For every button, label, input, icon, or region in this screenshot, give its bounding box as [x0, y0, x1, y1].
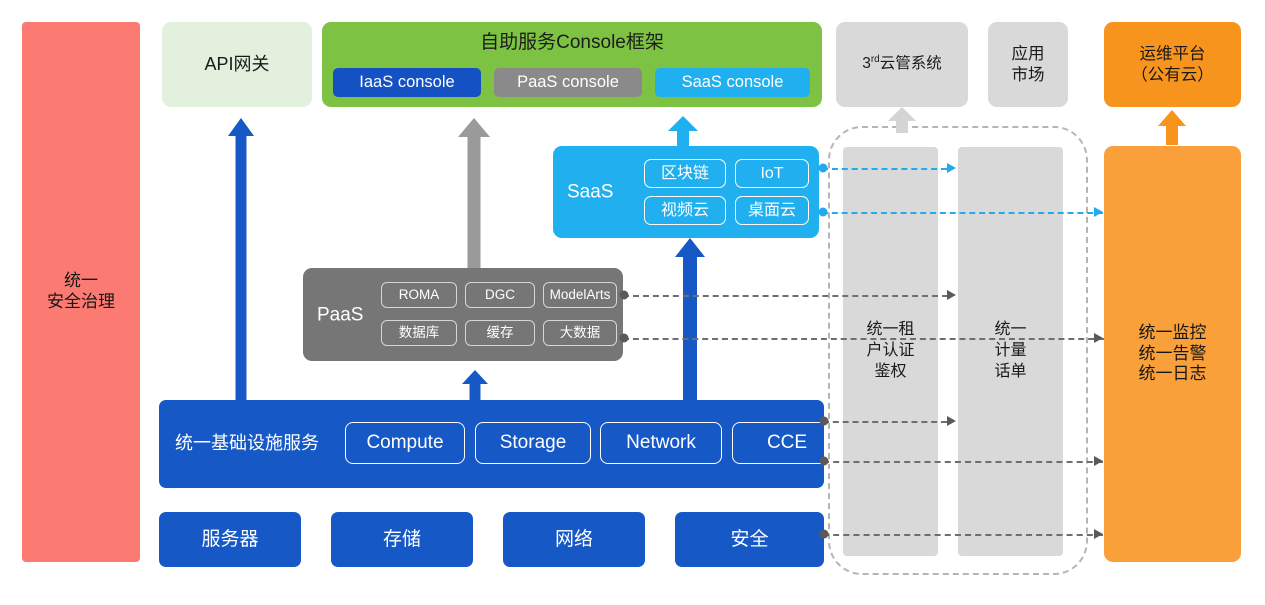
hardware-storage-label: 存储: [383, 528, 421, 551]
infra-chip-storage[interactable]: Storage: [475, 422, 591, 464]
architecture-diagram: 统一安全治理 API网关 自助服务Console框架 IaaS console …: [0, 0, 1265, 605]
dot-hardware-ops: [820, 530, 829, 539]
arrowtip-paas-ops: [1094, 333, 1103, 343]
governance-label: 统一安全治理: [47, 271, 115, 312]
arrow-infra-to-api-gateway: [228, 118, 254, 400]
arrow-ops-column-to-ops-platform: [1158, 110, 1186, 144]
hardware-network-box[interactable]: 网络: [503, 512, 645, 567]
saas-chip-iot[interactable]: IoT: [735, 159, 809, 188]
dashed-line-infra-to-auth: [823, 421, 947, 423]
saas-label: SaaS: [567, 180, 613, 203]
hardware-network-label: 网络: [555, 528, 593, 551]
dot-infra-auth: [820, 417, 829, 426]
paas-chip-cache[interactable]: 缓存: [465, 320, 535, 346]
ops-column-box: 统一监控统一告警统一日志: [1104, 146, 1241, 562]
hardware-security-box[interactable]: 安全: [675, 512, 824, 567]
third-party-label: 3rd云管系统: [862, 54, 942, 74]
dashed-line-saas-to-auth: [822, 168, 947, 170]
api-gateway-box: API网关: [162, 22, 312, 107]
app-market-label: 应用市场: [1012, 44, 1045, 84]
dot-paas-auth: [620, 291, 629, 300]
iaas-console-chip[interactable]: IaaS console: [333, 68, 481, 97]
hardware-storage-box[interactable]: 存储: [331, 512, 473, 567]
infra-chip-compute[interactable]: Compute: [345, 422, 465, 464]
ops-platform-label: 运维平台（公有云）: [1131, 44, 1214, 84]
arrow-paas-to-console: [458, 118, 490, 268]
hardware-server-box[interactable]: 服务器: [159, 512, 301, 567]
saas-chip-desktop-cloud[interactable]: 桌面云: [735, 196, 809, 225]
arrowtip-infra-auth: [947, 416, 956, 426]
unified-metering-label: 统一计量话单: [994, 320, 1026, 382]
dashed-line-hardware-to-ops: [823, 534, 1103, 536]
api-gateway-label: API网关: [204, 54, 269, 76]
dot-saas-ops: [819, 208, 828, 217]
dot-infra-ops: [820, 457, 829, 466]
paas-label: PaaS: [317, 303, 363, 326]
saas-chip-video-cloud[interactable]: 视频云: [644, 196, 726, 225]
paas-chip-roma[interactable]: ROMA: [381, 282, 457, 308]
dashed-line-saas-to-ops: [822, 212, 1103, 214]
arrowtip-saas-ops: [1094, 207, 1103, 217]
third-party-cloud-mgmt-box: 3rd云管系统: [836, 22, 968, 107]
arrow-infra-to-saas: [675, 238, 705, 401]
paas-chip-database[interactable]: 数据库: [381, 320, 457, 346]
dot-paas-ops: [620, 334, 629, 343]
console-framework-title: 自助服务Console框架: [322, 31, 822, 54]
arrow-infra-to-paas: [462, 370, 488, 401]
paas-box: PaaS ROMA DGC ModelArts 数据库 缓存 大数据: [303, 268, 623, 361]
dot-saas-auth: [819, 164, 828, 173]
governance-column: 统一安全治理: [22, 22, 140, 562]
arrow-saas-to-console: [668, 116, 698, 148]
dashed-line-infra-to-ops: [823, 461, 1103, 463]
unified-tenant-auth-column: 统一租户认证鉴权: [843, 147, 938, 556]
saas-console-chip[interactable]: SaaS console: [655, 68, 810, 97]
app-market-box: 应用市场: [988, 22, 1068, 107]
infrastructure-label: 统一基础设施服务: [175, 433, 319, 455]
unified-tenant-auth-label: 统一租户认证鉴权: [866, 320, 914, 382]
paas-chip-dgc[interactable]: DGC: [465, 282, 535, 308]
paas-chip-modelarts[interactable]: ModelArts: [543, 282, 617, 308]
unified-metering-column: 统一计量话单: [958, 147, 1063, 556]
arrow-shared-to-third-party: [888, 107, 916, 133]
saas-box: SaaS 区块链 IoT 视频云 桌面云: [553, 146, 819, 238]
hardware-server-label: 服务器: [201, 528, 258, 551]
infra-chip-network[interactable]: Network: [600, 422, 722, 464]
arrowtip-saas-auth: [947, 163, 956, 173]
dashed-line-paas-to-ops: [623, 338, 1104, 340]
paas-chip-bigdata[interactable]: 大数据: [543, 320, 617, 346]
arrowtip-infra-ops: [1094, 456, 1103, 466]
console-framework-box: 自助服务Console框架 IaaS console PaaS console …: [322, 22, 822, 107]
saas-chip-blockchain[interactable]: 区块链: [644, 159, 726, 188]
dashed-line-paas-to-auth: [623, 295, 948, 297]
arrowtip-paas-auth: [947, 290, 956, 300]
arrowtip-hardware-ops: [1094, 529, 1103, 539]
ops-platform-box: 运维平台（公有云）: [1104, 22, 1241, 107]
paas-console-chip[interactable]: PaaS console: [494, 68, 642, 97]
infrastructure-bar: 统一基础设施服务 Compute Storage Network CCE: [159, 400, 824, 488]
hardware-security-label: 安全: [730, 528, 768, 551]
ops-column-label: 统一监控统一告警统一日志: [1139, 323, 1207, 385]
